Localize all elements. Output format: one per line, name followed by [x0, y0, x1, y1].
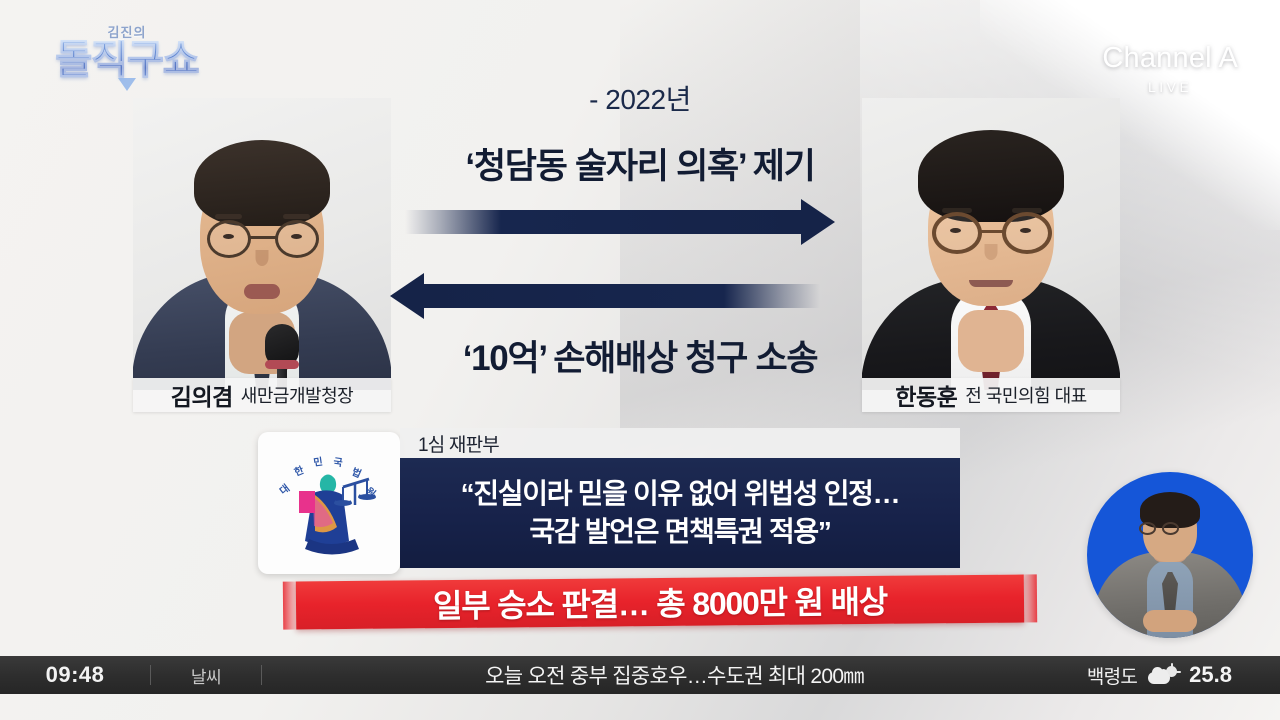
sign-language-interpreter-inset — [1087, 472, 1253, 638]
verdict-banner-text: 일부 승소 판결… 총 8000만 원 배상 — [433, 577, 887, 627]
ticker-weather-label: 날씨 — [151, 663, 261, 688]
svg-text:법: 법 — [350, 465, 364, 481]
interpreter-glasses-right — [1162, 522, 1179, 535]
ruling-quote-line-1: “진실이라 믿을 이유 없어 위법성 인정… — [461, 476, 900, 512]
eyeglasses-right-lens — [275, 220, 319, 258]
show-logo-title: 돌직구쇼 — [52, 40, 202, 80]
arrow-shaft — [405, 210, 805, 234]
court-label-band: 1심 재판부 — [400, 428, 960, 458]
verdict-banner: 일부 승소 판결… 총 8000만 원 배상 — [296, 575, 1024, 630]
channel-name: Channel A — [1102, 44, 1238, 73]
ticker-temperature: 25.8 — [1189, 662, 1232, 688]
headline-lawsuit: ‘10억’ 손해배상 청구 소송 — [0, 330, 1280, 381]
eye-right — [1020, 228, 1031, 233]
ruling-quote-line-2: 국감 발언은 면책특권 적용” — [529, 514, 830, 550]
eyeglasses-right-lens — [1002, 212, 1052, 254]
nameplate-right: 한동훈 전 국민의힘 대표 — [862, 378, 1120, 412]
arrow-right-to-left-icon — [390, 273, 820, 319]
ticker-weather-region: 백령도 — [1087, 662, 1137, 689]
interpreter-glasses-left — [1139, 522, 1156, 535]
svg-text:민: 민 — [313, 455, 324, 469]
sun-ray — [1171, 663, 1173, 668]
person-left-title: 새만금개발청장 — [241, 382, 353, 408]
eye-right — [291, 234, 302, 239]
mouth — [244, 284, 280, 299]
sun-ray — [1176, 671, 1181, 673]
nose — [985, 244, 998, 260]
nose — [256, 250, 269, 266]
mouth — [969, 280, 1013, 287]
headline-accusation: ‘청담동 술자리 의혹’ 제기 — [0, 138, 1280, 189]
court-label: 1심 재판부 — [418, 430, 499, 457]
court-emblem-card: 대 한 민 국 법 원 — [258, 432, 400, 574]
svg-text:한: 한 — [293, 464, 307, 479]
svg-text:대: 대 — [277, 481, 292, 497]
arrow-head — [801, 199, 835, 245]
court-emblem-icon: 대 한 민 국 법 원 — [269, 443, 389, 563]
eye-left — [223, 234, 234, 239]
arrow-head — [390, 273, 424, 319]
arrow-left-to-right-icon — [405, 199, 835, 245]
person-right-name: 한동훈 — [895, 378, 957, 412]
person-right-title: 전 국민의힘 대표 — [965, 382, 1086, 408]
interpreter-hands — [1143, 610, 1197, 632]
ticker-headline: 오늘 오전 중부 집중호우…수도권 최대 200㎜ — [262, 660, 1087, 690]
ticker-weather-readout: 백령도 25.8 — [1087, 662, 1280, 689]
eyeglasses-left-lens — [932, 212, 982, 254]
eyeglasses-bridge — [250, 236, 276, 239]
eyeglasses-left-lens — [207, 220, 251, 258]
arrow-shaft — [420, 284, 820, 308]
ruling-quote-box: “진실이라 믿을 이유 없어 위법성 인정… 국감 발언은 면책특권 적용” — [400, 458, 960, 568]
eyeglasses-bridge — [981, 230, 1004, 233]
cloud-shape — [1148, 672, 1170, 684]
eye-left — [950, 228, 961, 233]
year-label: - 2022년 — [0, 78, 1280, 118]
bottom-ticker-bar: 09:48 날씨 오늘 오전 중부 집중호우…수도권 최대 200㎜ 백령도 2… — [0, 656, 1280, 694]
person-left-name: 김의겸 — [171, 378, 233, 412]
ticker-clock: 09:48 — [0, 662, 150, 688]
eyebrow-right — [283, 214, 310, 219]
eyebrow-left — [215, 214, 242, 219]
partly-cloudy-icon — [1148, 664, 1178, 686]
nameplate-left: 김의겸 새만금개발청장 — [133, 378, 391, 412]
svg-text:국: 국 — [333, 456, 344, 469]
